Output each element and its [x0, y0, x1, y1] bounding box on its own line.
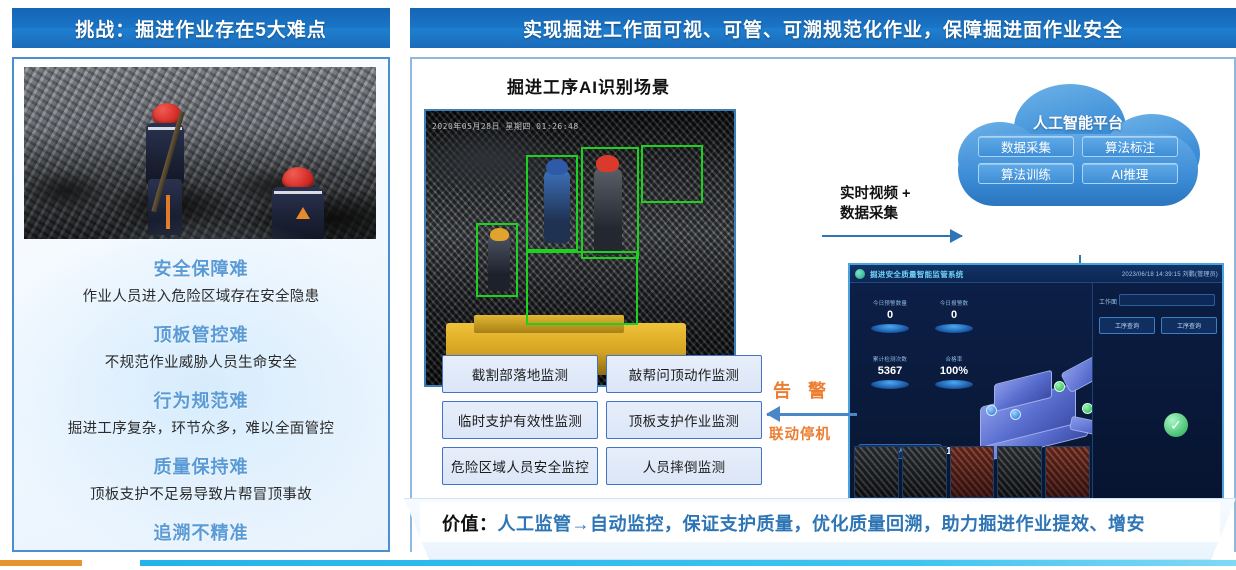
- value-key: 价值：: [442, 514, 498, 534]
- monitor-box-person-fall[interactable]: 人员摔倒监测: [606, 447, 762, 485]
- difficulty-item: 安全保障难 作业人员进入危险区域存在安全隐患: [14, 255, 388, 306]
- kpi-base-glow: [935, 380, 973, 389]
- camera-thumbnail-strip: [854, 446, 1090, 498]
- kpi-base-glow: [871, 324, 909, 333]
- ai-platform-cloud: 人工智能平台 数据采集 算法标注 算法训练 AI推理: [952, 84, 1204, 210]
- kpi-label: 今日预警数量: [864, 299, 916, 307]
- process-query-button-1[interactable]: 工序查询: [1099, 317, 1155, 334]
- cloud-title: 人工智能平台: [952, 112, 1204, 133]
- monitoring-capability-grid: 截割部落地监测 敲帮问顶动作监测 临时支护有效性监测 顶板支护作业监测 危险区域…: [442, 355, 762, 485]
- status-dot-info: [1010, 409, 1021, 420]
- accent-bar-orange: [0, 560, 82, 566]
- dashboard-side-panel: 工作面 工序查询 工序查询: [1092, 283, 1222, 501]
- camera-thumbnail[interactable]: [950, 446, 995, 498]
- solution-panel: 掘进工序AI识别场景 2020年05月28日 星期四 01:26:48 实时视频…: [410, 57, 1236, 552]
- kpi-value: 0: [864, 309, 916, 321]
- detection-box: [526, 155, 578, 251]
- value-text: 价值：人工监管→自动监控，保证支护质量，优化质量回溯，助力掘进作业提效、增安: [442, 510, 1145, 536]
- left-header-text: 挑战：掘进作业存在5大难点: [75, 15, 327, 42]
- arrow-label-video-line1: 实时视频 +: [840, 185, 911, 205]
- dashboard-title: 掘进安全质量智能监管系统: [870, 269, 964, 280]
- video-timestamp: 2020年05月28日 星期四 01:26:48: [432, 121, 579, 132]
- left-panel-header: 挑战：掘进作业存在5大难点: [12, 8, 390, 48]
- detection-box: [476, 223, 518, 297]
- dashboard-main-view: 今日预警数量 0 今日报警数 0 累计检测次数 5367 合格率 100% 实时…: [850, 283, 1094, 501]
- kpi-label: 累计检测次数: [864, 355, 916, 363]
- status-dot-ok: [1054, 381, 1065, 392]
- dashboard-kpi: 累计检测次数 5367: [864, 355, 916, 389]
- monitoring-dashboard: 掘进安全质量智能监管系统 2023/06/18 14:39:15 刘鹏(管理员)…: [848, 263, 1224, 503]
- camera-thumbnail[interactable]: [902, 446, 947, 498]
- difficulty-title: 顶板管控难: [14, 321, 388, 347]
- difficulty-item: 顶板管控难 不规范作业威胁人员生命安全: [14, 321, 388, 372]
- dashboard-kpi: 今日报警数 0: [928, 299, 980, 333]
- kpi-label: 今日报警数: [928, 299, 980, 307]
- kpi-base-glow: [935, 324, 973, 333]
- alarm-arrow-icon: [767, 413, 857, 416]
- process-query-button-2[interactable]: 工序查询: [1161, 317, 1217, 334]
- dashboard-kpi: 今日预警数量 0: [864, 299, 916, 333]
- dashboard-logo-icon: [855, 269, 865, 279]
- detection-box: [526, 251, 638, 325]
- right-header-text: 实现掘进工作面可视、可管、可溯规范化作业，保障掘进面作业安全: [523, 15, 1123, 42]
- difficulty-item: 行为规范难 掘进工序复杂，环节众多，难以全面管控: [14, 387, 388, 438]
- detection-box: [641, 145, 703, 203]
- difficulty-title: 追溯不精准: [14, 519, 388, 545]
- difficulty-item: 追溯不精准 传统纸质施工记录，质量追溯不精确: [14, 519, 388, 552]
- scene-title: 掘进工序AI识别场景: [507, 73, 670, 98]
- value-statement-bar: 价值：人工监管→自动监控，保证支护质量，优化质量回溯，助力掘进作业提效、增安: [404, 498, 1236, 560]
- coal-mine-workers-photo: [24, 67, 376, 239]
- monitor-box-cutting-landing[interactable]: 截割部落地监测: [442, 355, 598, 393]
- monitor-box-temp-support[interactable]: 临时支护有效性监测: [442, 401, 598, 439]
- difficulty-desc: 传统纸质施工记录，质量追溯不精确: [14, 549, 388, 552]
- status-dot-info: [986, 405, 997, 416]
- arrow-label-video: 实时视频 + 数据采集: [840, 185, 911, 224]
- arrow-to-cloud-icon: [822, 235, 962, 237]
- value-body: 人工监管→自动监控，保证支护质量，优化质量回溯，助力掘进作业提效、增安: [498, 514, 1146, 534]
- difficulty-list: 安全保障难 作业人员进入危险区域存在安全隐患 顶板管控难 不规范作业威胁人员生命…: [14, 255, 388, 552]
- difficulty-item: 质量保持难 顶板支护不足易导致片帮冒顶事故: [14, 453, 388, 504]
- kpi-value: 0: [928, 309, 980, 321]
- alarm-label: 告 警: [773, 377, 832, 403]
- monitor-box-danger-zone[interactable]: 危险区域人员安全监控: [442, 447, 598, 485]
- arrow-label-video-line2: 数据采集: [840, 205, 911, 225]
- difficulty-desc: 掘进工序复杂，环节众多，难以全面管控: [14, 417, 388, 438]
- cloud-tag-algorithm-labeling[interactable]: 算法标注: [1082, 136, 1178, 157]
- linked-shutdown-label: 联动停机: [769, 423, 831, 444]
- challenges-panel: 安全保障难 作业人员进入危险区域存在安全隐患 顶板管控难 不规范作业威胁人员生命…: [12, 57, 390, 552]
- cloud-tag-data-collection[interactable]: 数据采集: [978, 136, 1074, 157]
- dashboard-user-datetime: 2023/06/18 14:39:15 刘鹏(管理员): [1122, 269, 1218, 278]
- monitor-box-roof-tapping[interactable]: 敲帮问顶动作监测: [606, 355, 762, 393]
- kpi-value: 5367: [864, 365, 916, 377]
- camera-thumbnail[interactable]: [997, 446, 1042, 498]
- monitor-box-roof-support[interactable]: 顶板支护作业监测: [606, 401, 762, 439]
- difficulty-title: 行为规范难: [14, 387, 388, 413]
- camera-thumbnail[interactable]: [1045, 446, 1090, 498]
- difficulty-desc: 顶板支护不足易导致片帮冒顶事故: [14, 483, 388, 504]
- cloud-tag-ai-inference[interactable]: AI推理: [1082, 163, 1178, 184]
- accent-bar-cyan: [140, 560, 1236, 566]
- kpi-base-glow: [871, 380, 909, 389]
- workface-filter-label: 工作面: [1099, 297, 1117, 306]
- right-panel-header: 实现掘进工作面可视、可管、可溯规范化作业，保障掘进面作业安全: [410, 8, 1236, 48]
- detection-box: [581, 147, 639, 259]
- status-check-icon: [1164, 413, 1188, 437]
- cloud-tag-algorithm-training[interactable]: 算法训练: [978, 163, 1074, 184]
- difficulty-title: 安全保障难: [14, 255, 388, 281]
- difficulty-desc: 不规范作业威胁人员生命安全: [14, 351, 388, 372]
- ai-detection-video: 2020年05月28日 星期四 01:26:48: [424, 109, 736, 387]
- cloud-tag-list: 数据采集 算法标注 算法训练 AI推理: [978, 136, 1178, 184]
- workface-filter-select[interactable]: [1119, 294, 1215, 306]
- difficulty-desc: 作业人员进入危险区域存在安全隐患: [14, 285, 388, 306]
- camera-thumbnail[interactable]: [854, 446, 899, 498]
- difficulty-title: 质量保持难: [14, 453, 388, 479]
